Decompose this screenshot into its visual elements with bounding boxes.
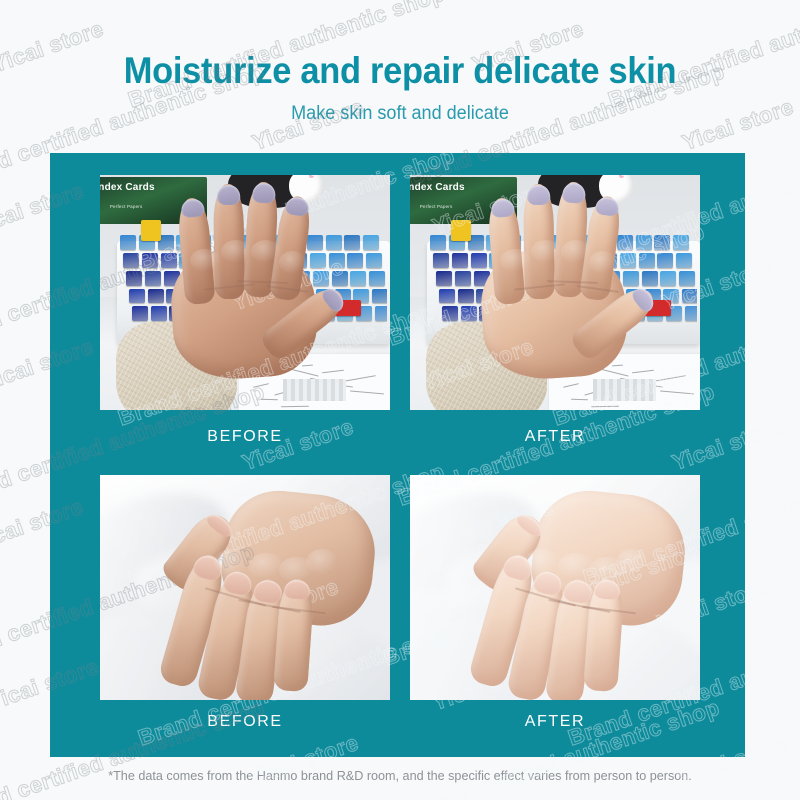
keycap <box>372 289 387 304</box>
cloth-scene-after <box>410 475 700 700</box>
fingernail <box>490 198 514 218</box>
hand-after <box>445 180 677 410</box>
knuckle-highlight <box>531 240 561 263</box>
knuckle-highlight <box>306 549 338 575</box>
photo-after-keyboard: ndex Cards Perfect Papers <box>410 175 700 410</box>
keycap <box>685 306 697 321</box>
fingernail <box>562 183 586 204</box>
caption-before-bottom: BEFORE <box>100 713 390 731</box>
page-subtitle: Make skin soft and delicate <box>20 102 780 126</box>
cloth-scene-before <box>100 475 390 700</box>
fingernail <box>216 185 239 205</box>
knuckle-highlight <box>221 240 251 263</box>
hand-before <box>141 484 385 700</box>
fingernail <box>285 196 310 217</box>
bunny-ear-accent <box>619 175 623 178</box>
keyboard-scene-after: ndex Cards Perfect Papers <box>410 175 700 410</box>
footnote: *The data comes from the Hanmo brand R&D… <box>12 768 788 783</box>
caption-after-top: AFTER <box>410 428 700 446</box>
promo-banner: Moisturize and repair delicate skin Make… <box>0 0 800 800</box>
keycap <box>375 306 387 321</box>
caption-after-bottom: AFTER <box>410 713 700 731</box>
photo-before-cloth <box>100 475 390 700</box>
knuckle-highlight <box>214 549 251 575</box>
keycap <box>679 271 695 286</box>
comparison-panel: ndex Cards Perfect Papers BEFORE <box>50 153 745 757</box>
knuckle-highlight <box>524 549 561 575</box>
fingernail <box>630 285 658 314</box>
fingernail <box>252 183 276 204</box>
page-title: Moisturize and repair delicate skin <box>28 48 772 94</box>
keycap <box>676 253 692 268</box>
knuckle-highlight <box>251 240 281 263</box>
fingernail <box>526 185 549 205</box>
photo-before-keyboard: ndex Cards Perfect Papers <box>100 175 390 410</box>
bunny-ear-accent <box>309 175 313 178</box>
keycap <box>682 289 697 304</box>
knuckle-highlight <box>561 240 591 263</box>
fingernail <box>320 285 348 314</box>
fingernail <box>595 196 620 217</box>
keycap <box>369 271 385 286</box>
photo-after-cloth <box>410 475 700 700</box>
caption-before-top: BEFORE <box>100 428 390 446</box>
fingernail <box>180 198 204 218</box>
keyboard-scene-before: ndex Cards Perfect Papers <box>100 175 390 410</box>
knuckle-highlight <box>190 249 220 272</box>
knuckle-highlight <box>500 249 530 272</box>
keycap <box>366 253 382 268</box>
hand-before <box>135 180 367 410</box>
hand-after <box>451 484 695 700</box>
knuckle-highlight <box>616 549 648 575</box>
header: Moisturize and repair delicate skin Make… <box>0 48 800 126</box>
